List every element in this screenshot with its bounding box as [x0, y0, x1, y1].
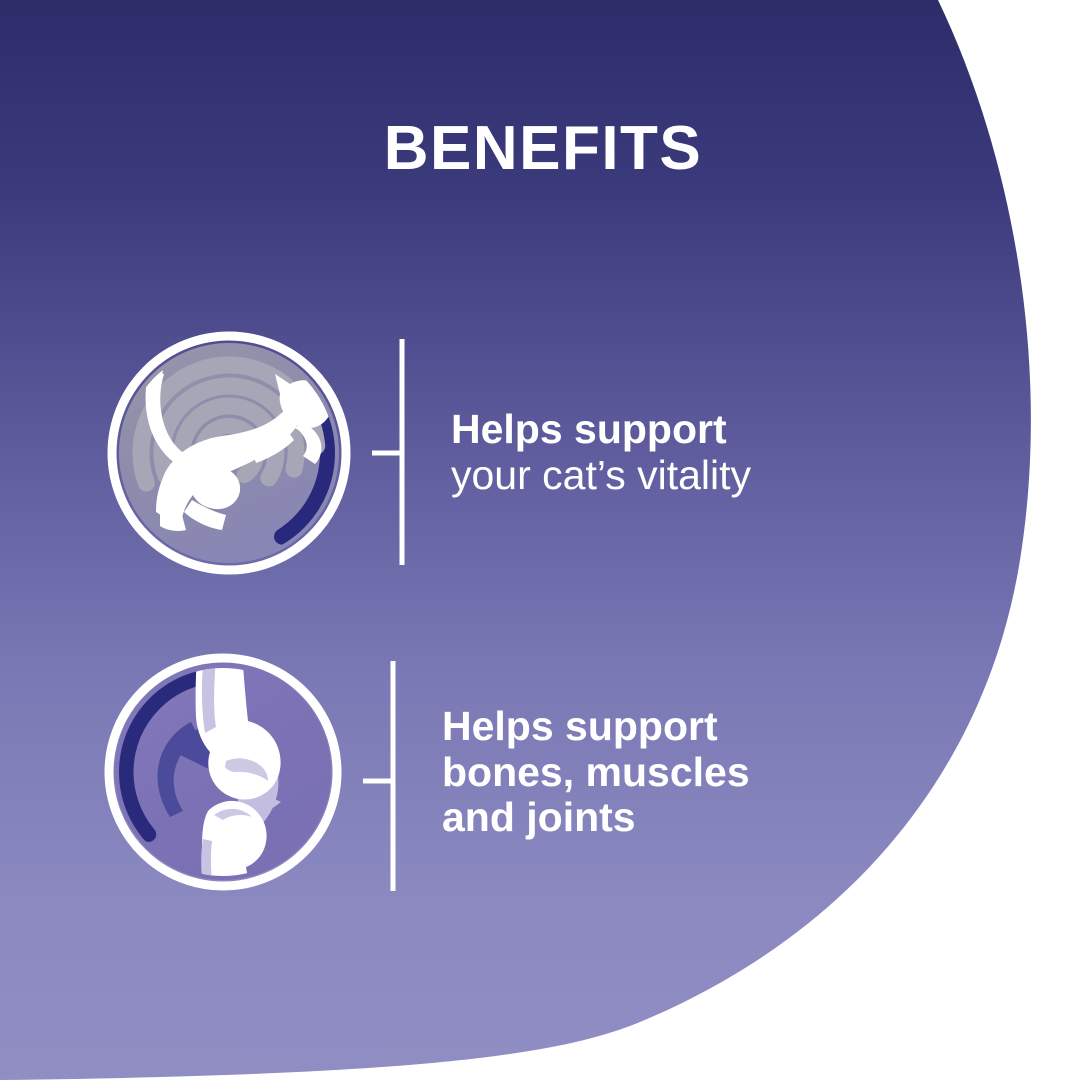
benefit-line: your cat’s vitality	[451, 453, 751, 499]
leaping-cat-vitality-icon	[98, 322, 360, 584]
benefit-text: Helps support your cat’s vitality	[451, 407, 751, 499]
benefit-line: bones, muscles	[442, 750, 750, 796]
benefit-line: Helps support	[442, 704, 750, 750]
benefit-item: Helps support your cat’s vitality	[98, 322, 751, 584]
benefits-panel: BENEFITS	[0, 0, 1080, 1080]
connector-line	[360, 333, 412, 573]
benefit-line: Helps support	[451, 407, 751, 453]
benefit-text: Helps support bones, muscles and joints	[442, 704, 750, 842]
bone-joint-icon	[96, 645, 351, 900]
benefit-item: Helps support bones, muscles and joints	[96, 645, 750, 900]
connector-line	[351, 653, 403, 893]
benefit-line: and joints	[442, 795, 750, 841]
